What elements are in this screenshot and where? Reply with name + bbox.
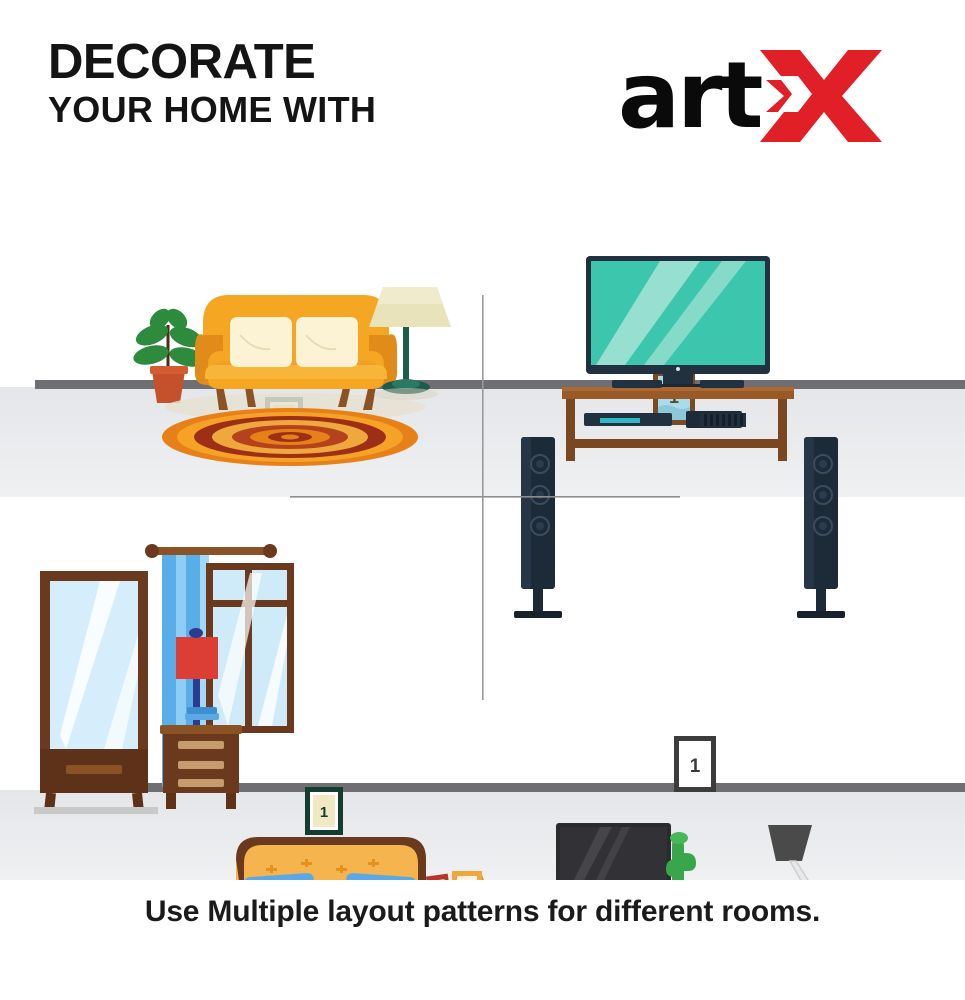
svg-text:1: 1 (690, 756, 701, 777)
logo-wordmark: art (618, 50, 760, 142)
bottom-floor (0, 790, 965, 880)
headline-block: DECORATE YOUR HOME WITH (48, 38, 376, 132)
room-scenes: 1 (0, 175, 965, 880)
poster-canvas: DECORATE YOUR HOME WITH art (0, 0, 965, 1000)
poster-caption: Use Multiple layout patterns for differe… (0, 895, 965, 929)
bedroom-framed-art: 1 (305, 787, 343, 835)
television (586, 256, 770, 391)
standing-mirror (34, 571, 158, 814)
logo-x-icon (754, 46, 884, 146)
headline-secondary: YOUR HOME WITH (48, 87, 376, 132)
window (206, 563, 294, 733)
caption-text: Use Multiple layout patterns for differe… (145, 895, 820, 929)
svg-text:1: 1 (320, 804, 328, 821)
tower-speaker-left (514, 437, 562, 618)
divider-horizontal (290, 496, 680, 498)
monitor (556, 823, 671, 880)
circular-rug (162, 408, 418, 466)
poster-header: DECORATE YOUR HOME WITH art (0, 0, 965, 175)
brand-logo: art (618, 42, 884, 150)
headline-primary: DECORATE (48, 38, 376, 87)
office-framed-art: 1 (674, 736, 716, 792)
scenes-illustration: 1 (0, 175, 965, 880)
tower-speaker-right (797, 437, 845, 618)
